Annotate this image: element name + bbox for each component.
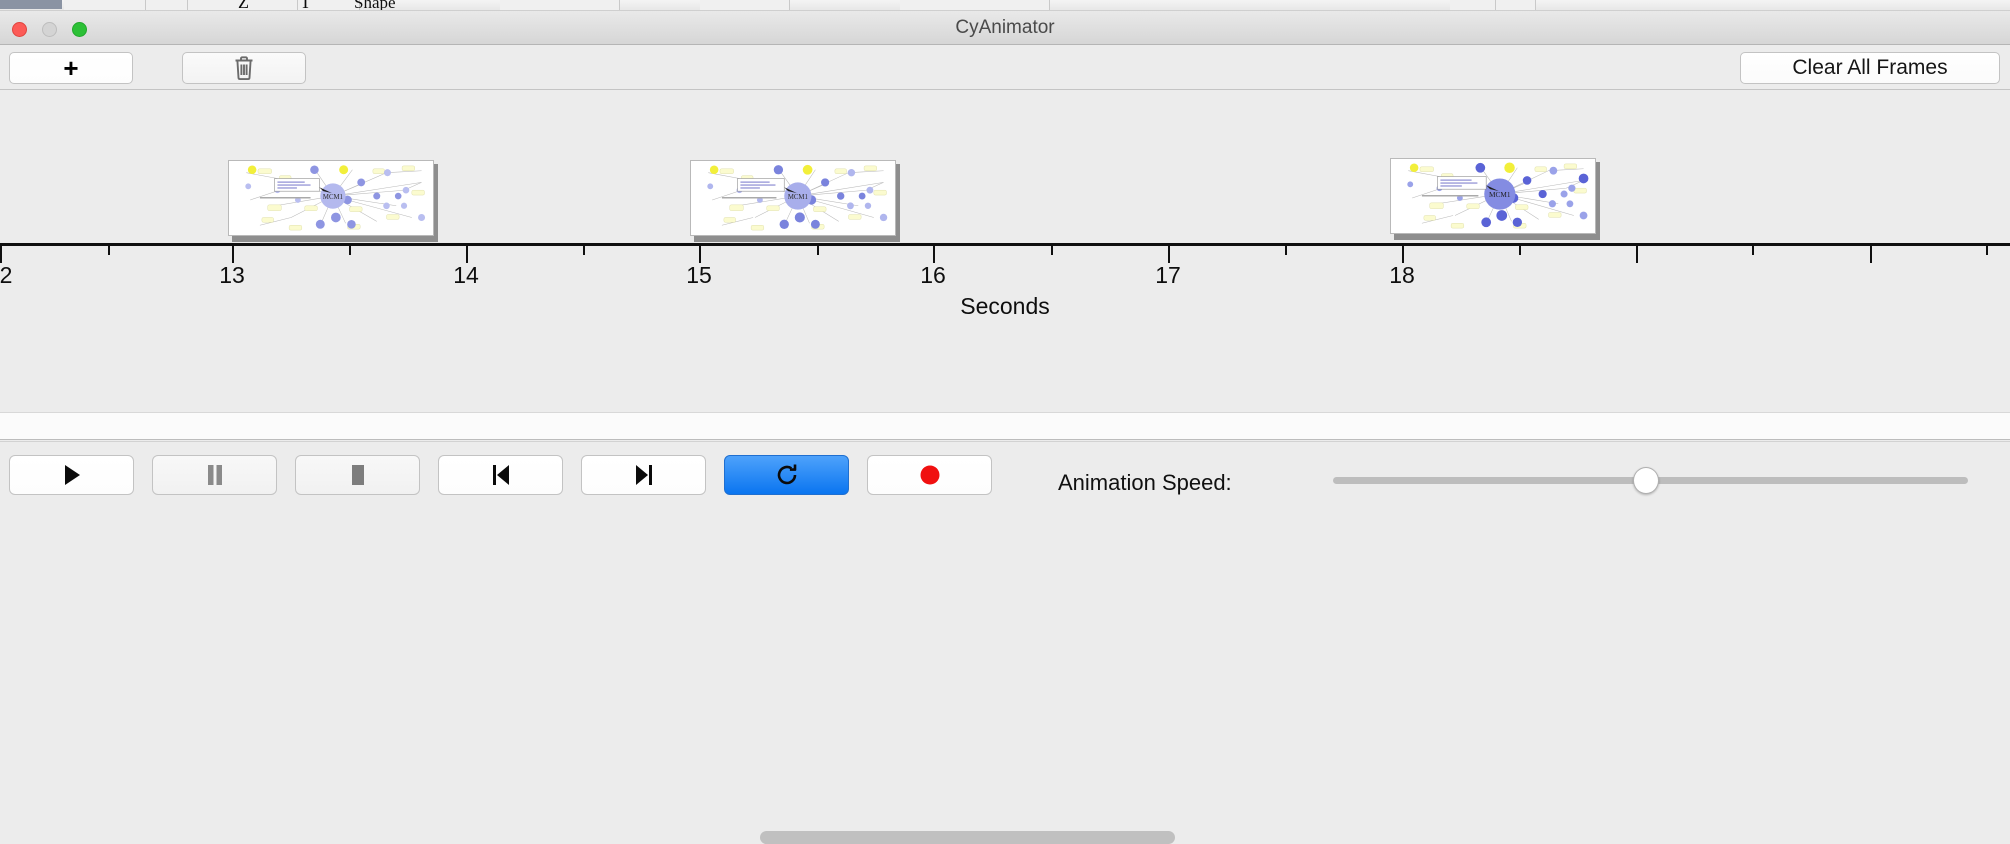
timeline-scrollbar-track[interactable] [0,412,2010,440]
axis-tick-major [466,246,468,263]
axis-tick-minor [583,246,585,255]
record-icon [919,464,941,486]
frame-toolbar: + Clear All Frames [0,45,2010,90]
loop-icon [775,462,799,488]
axis-tick-major [1168,246,1170,263]
play-button[interactable] [9,455,134,495]
skip-end-icon [634,464,654,486]
axis-label: 18 [1389,262,1415,289]
network-preview: MCM1 [1390,158,1596,234]
skip-start-icon [491,464,511,486]
axis-caption: Seconds [0,293,2010,320]
network-preview: MCM1 [228,160,434,236]
axis-label: 13 [219,262,245,289]
trash-icon [232,55,256,81]
loop-button[interactable] [724,455,849,495]
play-icon [62,464,82,486]
axis-tick-major [699,246,701,263]
network-preview: MCM1 [690,160,896,236]
window-title: CyAnimator [0,11,2010,45]
pause-button[interactable] [152,455,277,495]
playback-toolbar: Animation Speed: [0,441,2010,510]
timeline-panel[interactable]: MCM1 [0,90,2010,412]
axis-label: 2 [0,262,12,289]
axis-tick-minor [349,246,351,255]
clear-all-frames-label: Clear All Frames [1792,56,1947,80]
network-graph-icon: MCM1 [229,161,433,235]
axis-tick-major [1870,246,1872,263]
axis-tick-major [1402,246,1404,263]
axis-tick-minor [108,246,110,255]
record-button[interactable] [867,455,992,495]
animation-speed-slider-knob[interactable] [1633,467,1659,494]
skip-to-end-button[interactable] [581,455,706,495]
stop-icon [349,464,367,486]
timeline-frame-thumbnail[interactable]: MCM1 [690,160,900,240]
add-frame-button[interactable]: + [9,52,133,84]
timeline-frame-thumbnail[interactable]: MCM1 [228,160,438,240]
axis-label: 17 [1155,262,1181,289]
network-graph-icon: MCM1 [1391,159,1595,233]
plus-icon: + [63,55,78,81]
timeline-scrollbar-thumb[interactable] [760,831,1175,844]
timeline-frame-thumbnail[interactable]: MCM1 [1390,158,1600,238]
stop-button[interactable] [295,455,420,495]
axis-label: 14 [453,262,479,289]
axis-tick-minor [1285,246,1287,255]
axis-tick-minor [817,246,819,255]
axis-tick-major [1636,246,1638,263]
svg-text:MCM1: MCM1 [323,194,343,201]
pause-icon [206,464,224,486]
delete-frame-button[interactable] [182,52,306,84]
skip-to-start-button[interactable] [438,455,563,495]
clear-all-frames-button[interactable]: Clear All Frames [1740,52,2000,84]
axis-tick-minor [1986,246,1988,255]
svg-text:MCM1: MCM1 [1489,190,1511,199]
axis-tick-major [933,246,935,263]
svg-text:MCM1: MCM1 [788,194,808,201]
window-titlebar: CyAnimator [0,11,2010,45]
axis-tick-minor [1051,246,1053,255]
animation-speed-label: Animation Speed: [1058,470,1232,496]
background-selected-tab [0,0,62,9]
timeline-axis [0,243,2010,246]
axis-label: 16 [920,262,946,289]
axis-label: 15 [686,262,712,289]
background-window-strip: Z T Shape [0,0,2010,11]
network-graph-icon: MCM1 [691,161,895,235]
axis-tick-minor [1519,246,1521,255]
axis-tick-major [232,246,234,263]
axis-tick-major [0,246,2,263]
axis-tick-minor [1752,246,1754,255]
